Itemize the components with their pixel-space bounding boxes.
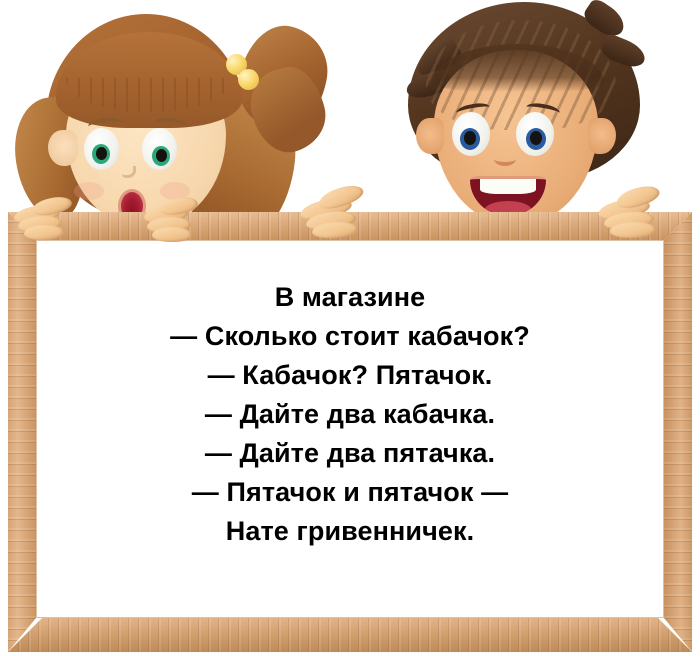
girl-ear — [48, 130, 78, 166]
boy-right-hand — [596, 186, 662, 238]
boy-pupil-right — [530, 131, 542, 145]
poem-title: В магазине — [36, 278, 664, 317]
poem-line-5: — Пятачок и пятачок — — [192, 477, 508, 507]
boy-pupil-left — [464, 131, 476, 145]
poem-line-3: — Дайте два кабачка. — [205, 399, 495, 429]
poem-line-6: Нате гривенничек. — [226, 516, 474, 546]
frame-left-rail — [8, 212, 36, 652]
boy-left-hand — [300, 186, 366, 238]
boy-teeth — [480, 179, 536, 194]
frame-bottom-rail — [8, 618, 692, 652]
sign-canvas: В магазине — Сколько стоит кабачок? — Ка… — [36, 240, 664, 618]
girl-right-hand — [144, 198, 202, 240]
poem-line-1: — Сколько стоит кабачок? — [170, 321, 530, 351]
wooden-sign-board: В магазине — Сколько стоит кабачок? — Ка… — [8, 212, 692, 652]
poem-text-block: В магазине — Сколько стоит кабачок? — Ка… — [36, 278, 664, 551]
poem-line-2: — Кабачок? Пятачок. — [208, 360, 493, 390]
girl-left-hand — [14, 196, 76, 238]
poster-scene: В магазине — Сколько стоит кабачок? — Ка… — [0, 0, 700, 656]
girl-cheek-blush — [74, 182, 104, 200]
poem-line-4: — Дайте два пятачка. — [205, 438, 495, 468]
boy-ear-left — [416, 118, 444, 154]
girl-pupil-left — [96, 147, 107, 160]
frame-right-rail — [664, 212, 692, 652]
girl-pupil-right — [156, 149, 167, 162]
boy-nose — [494, 152, 516, 166]
girl-hair-bead-icon — [238, 69, 259, 90]
